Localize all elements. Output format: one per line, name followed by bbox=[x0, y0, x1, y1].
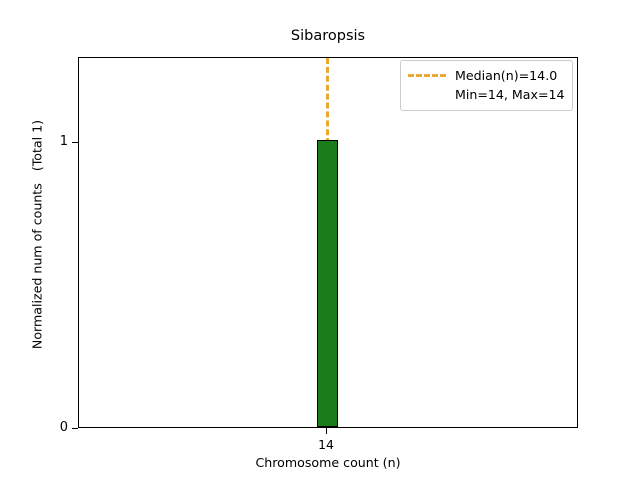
legend-entry-median: Median(n)=14.0 bbox=[408, 66, 565, 85]
x-axis-label: Chromosome count (n) bbox=[78, 455, 578, 470]
y-axis-tick-label-0: 0 bbox=[28, 421, 68, 434]
x-axis-tick-label-14: 14 bbox=[296, 437, 356, 452]
dashed-line-icon bbox=[408, 74, 446, 77]
plot-area bbox=[78, 57, 578, 428]
legend-label-minmax: Min=14, Max=14 bbox=[455, 87, 565, 102]
y-axis-tick-mark-0 bbox=[72, 428, 78, 429]
chart-title: Sibaropsis bbox=[78, 28, 578, 44]
chart-figure: Sibaropsis 1 0 Normalized num of counts … bbox=[0, 0, 640, 480]
legend-entry-minmax: Min=14, Max=14 bbox=[408, 85, 565, 104]
legend-label-median: Median(n)=14.0 bbox=[455, 68, 557, 83]
bar-14 bbox=[317, 140, 338, 427]
x-axis-tick-mark-14 bbox=[326, 428, 327, 434]
legend: Median(n)=14.0 Min=14, Max=14 bbox=[400, 60, 573, 111]
y-axis-label: Normalized num of counts (Total 1) bbox=[30, 85, 45, 385]
